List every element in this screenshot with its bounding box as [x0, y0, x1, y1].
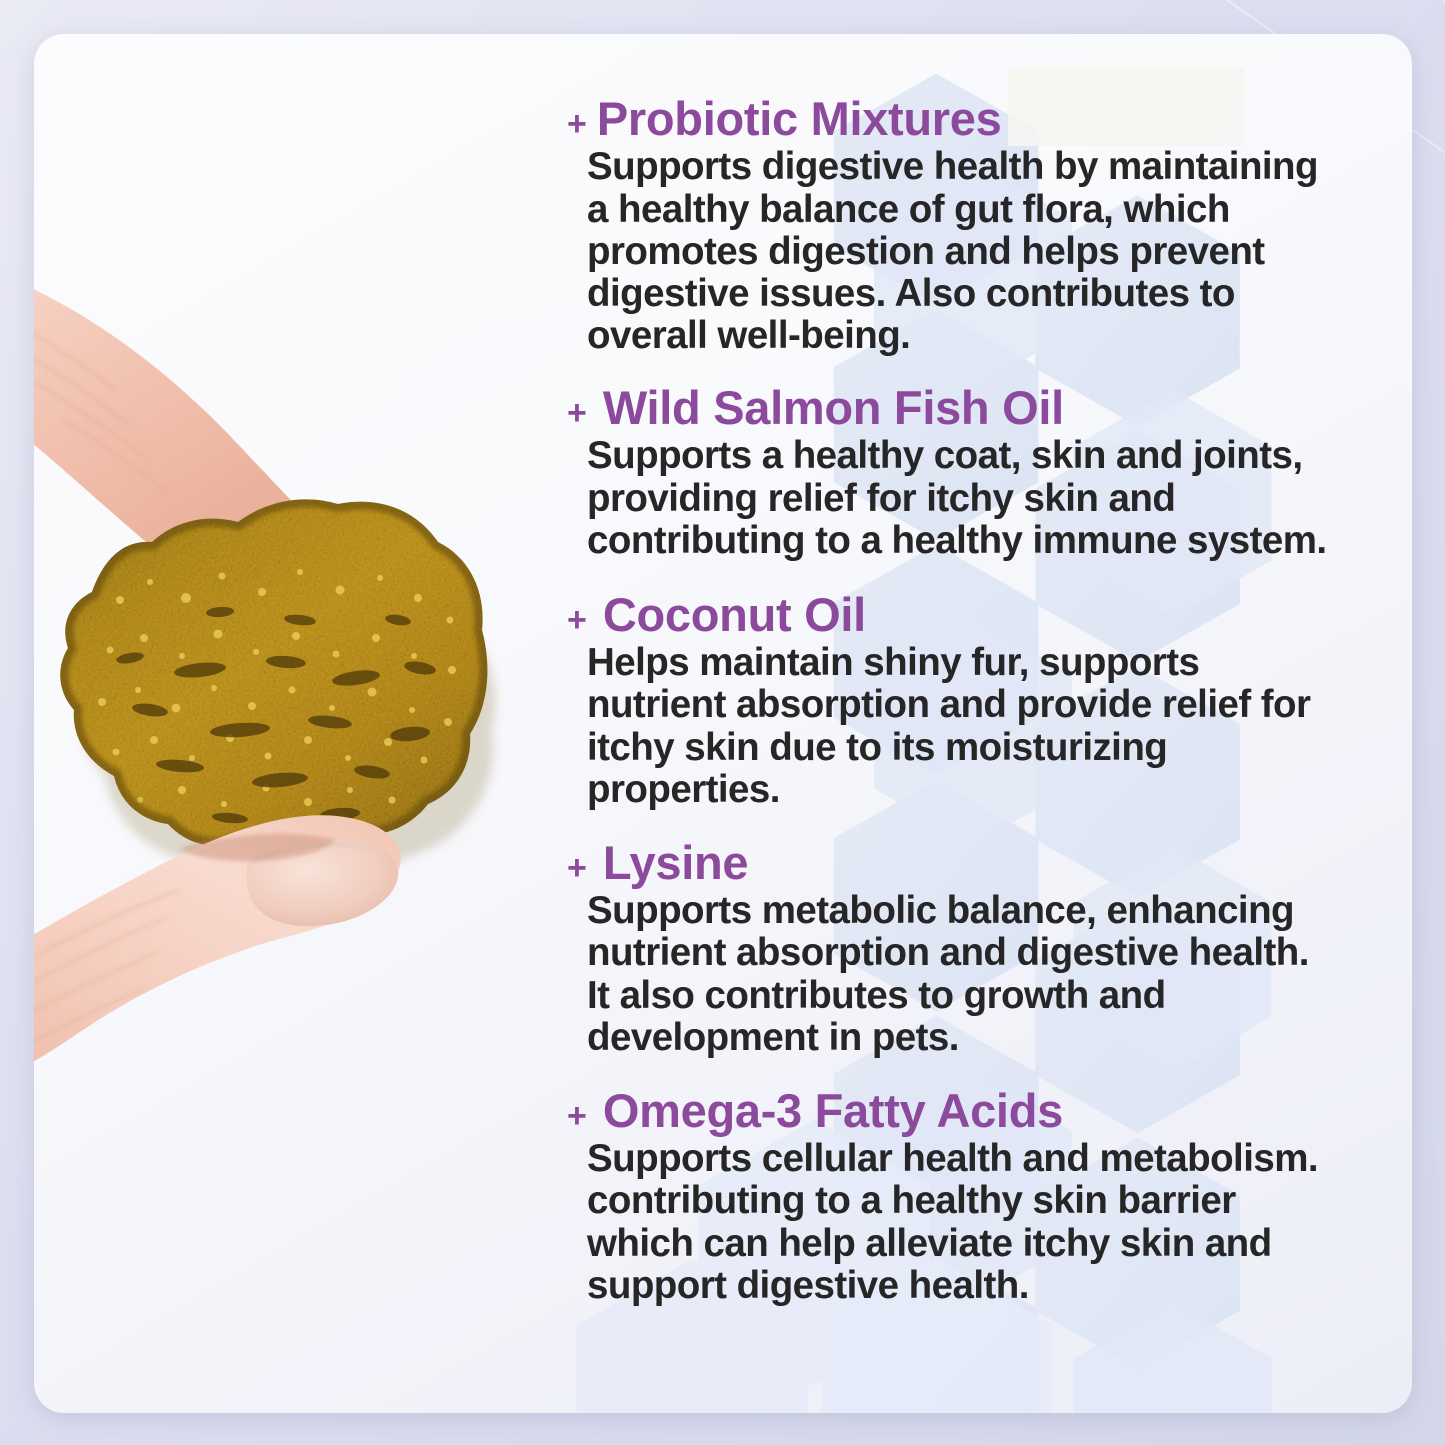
ingredient-block-probiotic-mixtures: + Probiotic Mixtures Supports digestive … [553, 94, 1398, 357]
ingredient-description: Supports digestive health by maintaining… [553, 146, 1398, 357]
ingredient-block-wild-salmon-fish-oil: + Wild Salmon Fish Oil Supports a health… [553, 383, 1398, 562]
ingredient-description: Supports metabolic balance, enhancing nu… [553, 890, 1398, 1059]
ingredient-heading: + Probiotic Mixtures [553, 94, 1398, 143]
ingredient-description: Supports cellular health and metabolism.… [553, 1138, 1398, 1307]
ingredient-title: Probiotic Mixtures [597, 94, 1002, 143]
plus-icon: + [567, 851, 587, 885]
plus-icon: + [567, 603, 587, 637]
index-finger [34, 258, 422, 696]
product-benefits-infographic: + Probiotic Mixtures Supports digestive … [0, 0, 1445, 1445]
ingredient-description: Helps maintain shiny fur, supports nutri… [553, 642, 1398, 811]
pet-treat-photo [34, 200, 560, 1220]
plus-icon: + [567, 1099, 587, 1133]
thumb-finger [34, 815, 401, 1106]
ingredient-heading: + Omega-3 Fatty Acids [553, 1086, 1398, 1135]
ingredient-heading: + Lysine [553, 838, 1398, 887]
ingredient-block-coconut-oil: + Coconut Oil Helps maintain shiny fur, … [553, 590, 1398, 811]
plus-icon: + [567, 107, 587, 141]
ingredient-block-lysine: + Lysine Supports metabolic balance, enh… [553, 838, 1398, 1059]
ingredient-title: Coconut Oil [603, 590, 866, 639]
ingredient-block-omega-3-fatty-acids: + Omega-3 Fatty Acids Supports cellular … [553, 1086, 1398, 1307]
content-card: + Probiotic Mixtures Supports digestive … [34, 34, 1412, 1413]
bone-shaped-treat [50, 490, 510, 877]
ingredient-heading: + Wild Salmon Fish Oil [553, 383, 1398, 432]
ingredient-title: Lysine [603, 838, 748, 887]
ingredient-title: Wild Salmon Fish Oil [603, 383, 1064, 432]
plus-icon: + [567, 396, 587, 430]
ingredient-title: Omega-3 Fatty Acids [603, 1086, 1063, 1135]
ingredient-description: Supports a healthy coat, skin and joints… [553, 435, 1398, 561]
ingredient-heading: + Coconut Oil [553, 590, 1398, 639]
ingredients-list: + Probiotic Mixtures Supports digestive … [553, 94, 1398, 1307]
